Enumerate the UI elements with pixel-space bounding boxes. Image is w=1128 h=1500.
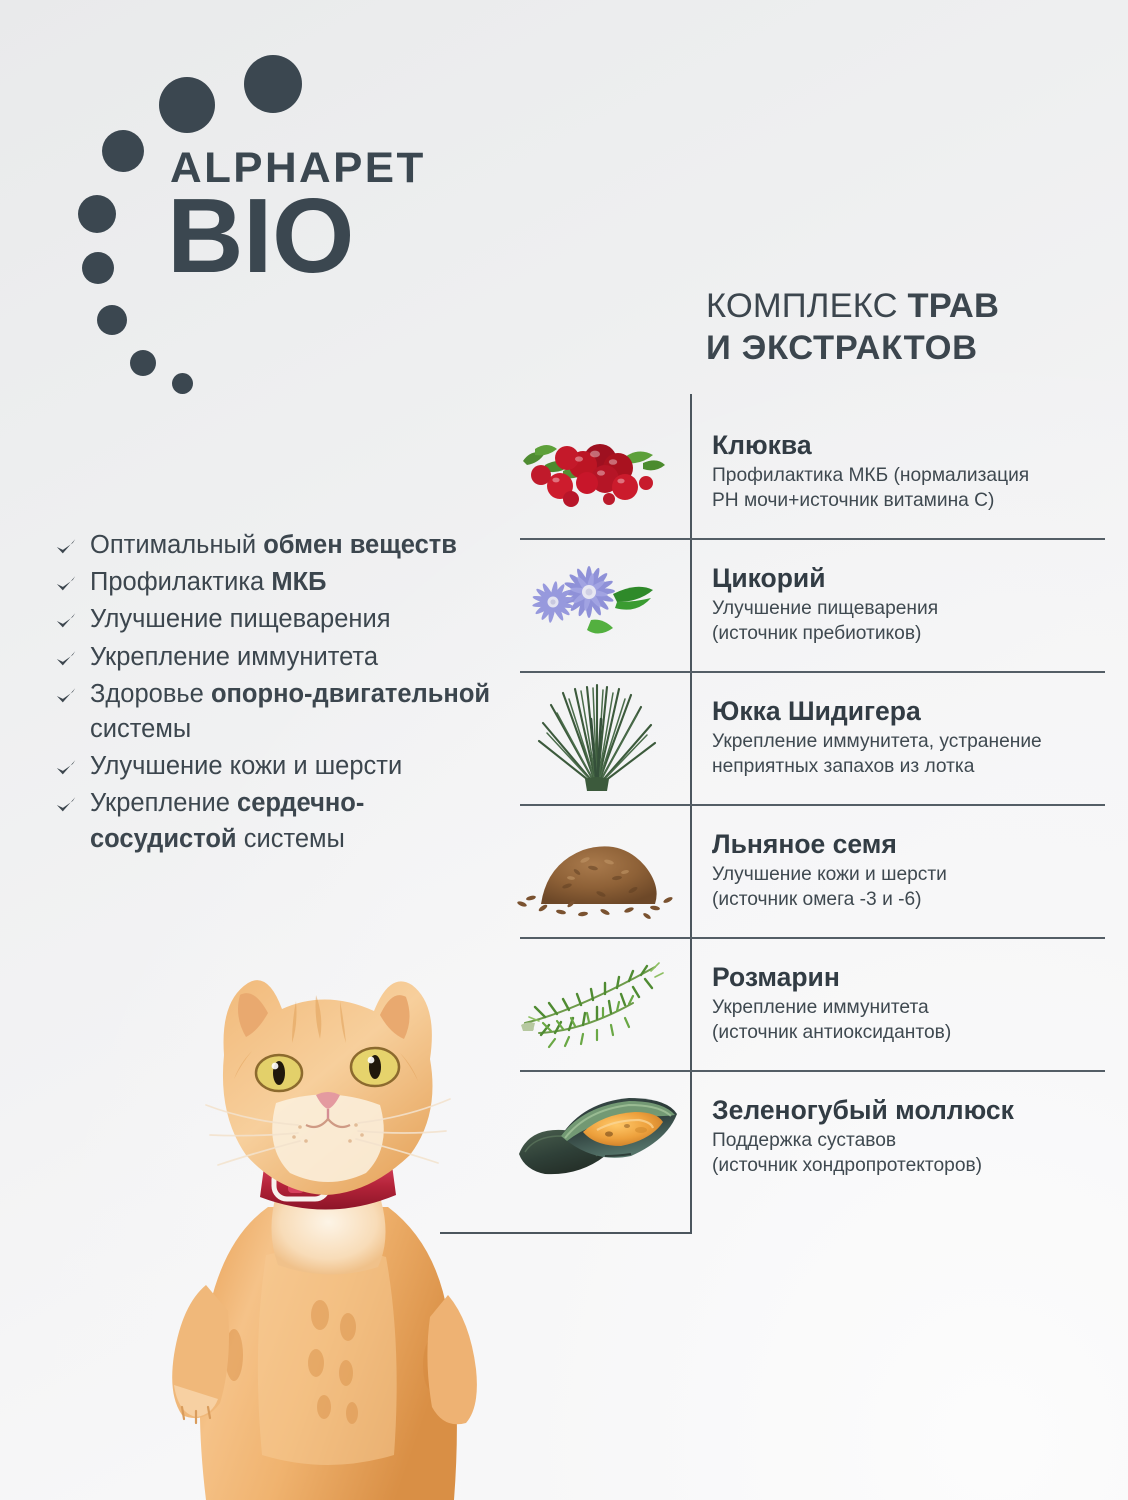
logo-dot	[244, 55, 302, 113]
flaxseed-photo	[505, 812, 690, 930]
product-infographic-page: ALPHAPET BIO Оптимальный обмен веществ П…	[0, 0, 1128, 1500]
ingredient-desc-line-2: неприятных запахов из лотка	[712, 756, 974, 777]
ingredient-desc-line-1: Укрепление иммунитета, устранение	[712, 731, 1042, 752]
check-icon	[55, 570, 77, 592]
check-icon	[55, 754, 77, 776]
ingredient-description: Профилактика МКБ (нормализация PH мочи+и…	[712, 464, 1029, 513]
ingredient-row: Цикорий Улучшение пищеварения (источник …	[505, 538, 1105, 671]
ingredients-table: Клюква Профилактика МКБ (нормализация PH…	[505, 405, 1105, 1203]
ingredient-description: Укрепление иммунитета, устранение неприя…	[712, 730, 1042, 779]
benefit-item: Укрепление иммунитета	[52, 640, 507, 675]
ingredient-text: Зеленогубый моллюск Поддержка суставов (…	[690, 1095, 1020, 1178]
check-icon	[55, 682, 77, 704]
ingredient-row: Розмарин Укрепление иммунитета (источник…	[505, 937, 1105, 1070]
ingredient-name: Цикорий	[712, 563, 938, 594]
logo-dot	[159, 77, 215, 133]
ingredient-description: Укрепление иммунитета (источник антиокси…	[712, 996, 951, 1045]
ingredient-desc-line-1: Профилактика МКБ (нормализация	[712, 465, 1029, 486]
ingredient-row: Льняное семя Улучшение кожи и шерсти (ис…	[505, 804, 1105, 937]
brand-wordmark: ALPHAPET BIO	[170, 150, 421, 283]
herbs-heading-regular: КОМПЛЕКС	[706, 287, 908, 325]
brand-logo: ALPHAPET BIO	[72, 55, 472, 400]
benefit-lead: Укрепление иммунитета	[90, 643, 378, 671]
check-icon	[55, 533, 77, 555]
logo-dot	[97, 305, 127, 335]
ingredient-desc-line-2: (источник хондропротекторов)	[712, 1155, 982, 1176]
ingredient-text: Розмарин Укрепление иммунитета (источник…	[690, 962, 957, 1045]
yucca-plant-photo	[505, 679, 690, 797]
benefit-lead: Профилактика	[90, 568, 271, 596]
benefit-tail: системы	[90, 715, 191, 743]
ingredient-desc-line-2: (источник антиоксидантов)	[712, 1022, 951, 1043]
chicory-flower-photo	[505, 546, 690, 664]
ingredient-desc-line-2: PH мочи+источник витамина C)	[712, 490, 994, 511]
herbs-heading: КОМПЛЕКС ТРАВ И ЭКСТРАКТОВ	[706, 285, 1106, 369]
ingredient-desc-line-2: (источник омега -3 и -6)	[712, 889, 922, 910]
benefit-strong: опорно-двигательной	[211, 680, 490, 708]
ingredient-name: Льняное семя	[712, 829, 947, 860]
ingredient-description: Улучшение пищеварения (источник пребиоти…	[712, 597, 938, 646]
logo-dot	[172, 373, 193, 394]
benefit-tail: системы	[237, 825, 345, 853]
ingredient-name: Юкка Шидигера	[712, 696, 1042, 727]
benefits-list: Оптимальный обмен веществ Профилактика М…	[52, 528, 507, 859]
benefit-item: Профилактика МКБ	[52, 565, 507, 600]
herbs-heading-bold-1: ТРАВ	[908, 287, 1000, 325]
ingredient-desc-line-2: (источник пребиотиков)	[712, 623, 921, 644]
benefit-lead: Улучшение пищеварения	[90, 605, 391, 633]
ingredient-name: Клюква	[712, 430, 1029, 461]
benefit-item: Улучшение кожи и шерсти	[52, 749, 507, 784]
ingredient-name: Зеленогубый моллюск	[712, 1095, 1014, 1126]
benefit-item: Укрепление сердечно-сосудистой системы	[52, 786, 507, 856]
ingredient-text: Клюква Профилактика МКБ (нормализация PH…	[690, 430, 1035, 513]
ingredient-text: Цикорий Улучшение пищеварения (источник …	[690, 563, 944, 646]
rosemary-sprig-photo	[505, 945, 690, 1063]
benefit-strong: МКБ	[271, 568, 326, 596]
benefit-item: Оптимальный обмен веществ	[52, 528, 507, 563]
brand-name-bottom: BIO	[167, 190, 421, 283]
ingredient-row: Клюква Профилактика МКБ (нормализация PH…	[505, 405, 1105, 538]
logo-dot	[82, 252, 114, 284]
logo-dot	[78, 195, 116, 233]
benefit-lead: Улучшение кожи и шерсти	[90, 752, 402, 780]
orange-tabby-cat-photo	[148, 955, 508, 1500]
benefit-lead: Укрепление	[90, 789, 237, 817]
ingredient-description: Поддержка суставов (источник хондропроте…	[712, 1129, 1014, 1178]
benefit-item: Здоровье опорно-двигательной системы	[52, 677, 507, 747]
ingredient-desc-line-1: Улучшение пищеварения	[712, 598, 938, 619]
ingredient-row: Юкка Шидигера Укрепление иммунитета, уст…	[505, 671, 1105, 804]
logo-dot	[130, 350, 156, 376]
herbs-heading-bold-2: И ЭКСТРАКТОВ	[706, 327, 1106, 369]
cranberries-photo	[505, 413, 690, 531]
brand-name-top: ALPHAPET	[170, 150, 426, 188]
ingredient-name: Розмарин	[712, 962, 951, 993]
ingredient-text: Юкка Шидигера Укрепление иммунитета, уст…	[690, 696, 1048, 779]
green-lipped-mussel-photo	[505, 1078, 690, 1196]
benefit-item: Улучшение пищеварения	[52, 602, 507, 637]
ingredient-desc-line-1: Поддержка суставов	[712, 1130, 896, 1151]
ingredient-description: Улучшение кожи и шерсти (источник омега …	[712, 863, 947, 912]
ingredient-text: Льняное семя Улучшение кожи и шерсти (ис…	[690, 829, 953, 912]
benefit-lead: Здоровье	[90, 680, 211, 708]
logo-dot	[102, 130, 144, 172]
benefit-lead: Оптимальный	[90, 531, 263, 559]
ingredient-desc-line-1: Улучшение кожи и шерсти	[712, 864, 947, 885]
check-icon	[55, 791, 77, 813]
ingredient-desc-line-1: Укрепление иммунитета	[712, 997, 929, 1018]
check-icon	[55, 607, 77, 629]
ingredient-row: Зеленогубый моллюск Поддержка суставов (…	[505, 1070, 1105, 1203]
benefit-strong: обмен веществ	[263, 531, 457, 559]
check-icon	[55, 645, 77, 667]
